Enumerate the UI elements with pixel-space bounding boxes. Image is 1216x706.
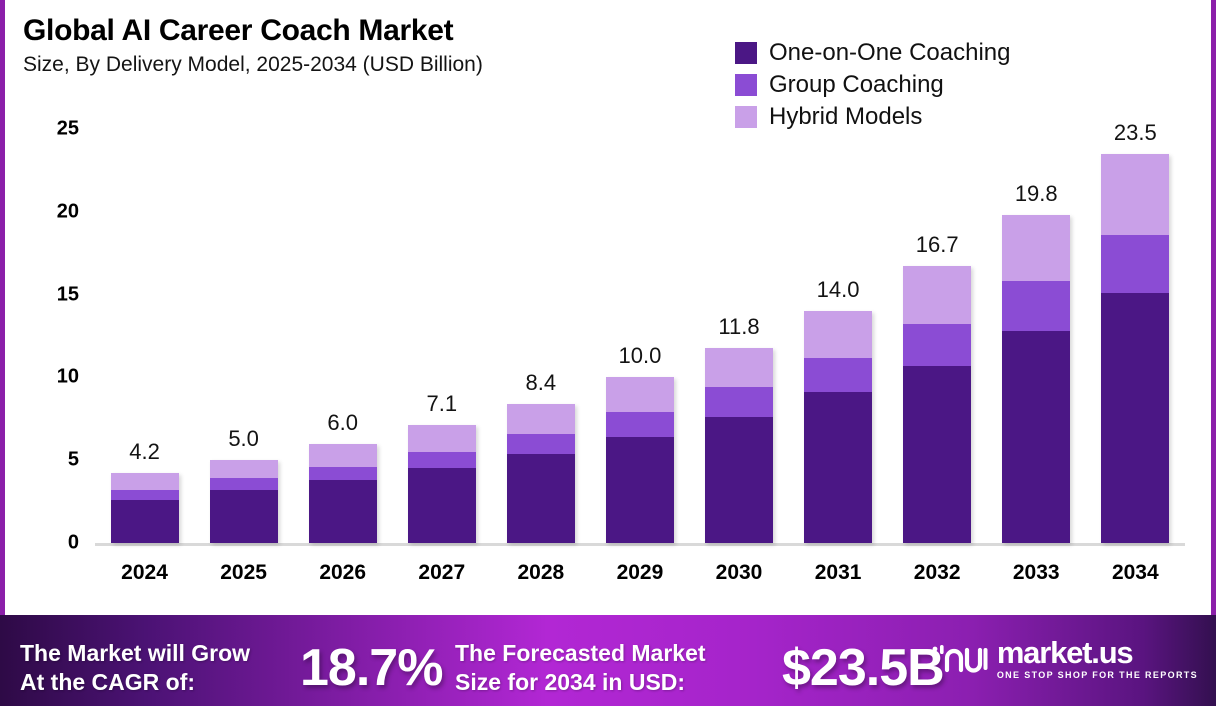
chart-plot-area: 4.25.06.07.18.410.011.814.016.719.823.5 xyxy=(95,110,1185,543)
cagr-label: The Market will Grow At the CAGR of: xyxy=(20,639,250,697)
stacked-bar[interactable] xyxy=(1002,215,1070,543)
x-axis-tick-label: 2027 xyxy=(408,561,476,585)
x-axis-tick-label: 2030 xyxy=(705,561,773,585)
stacked-bar[interactable] xyxy=(408,425,476,543)
stacked-bar[interactable] xyxy=(309,444,377,543)
bar-segment-hybrid-models[interactable] xyxy=(210,460,278,478)
bar-column[interactable]: 14.0 xyxy=(804,110,872,543)
bar-value-label: 10.0 xyxy=(619,343,662,369)
forecast-value: $23.5B xyxy=(782,640,944,696)
bar-segment-one-on-one-coaching[interactable] xyxy=(111,500,179,543)
stacked-bar[interactable] xyxy=(705,348,773,543)
bar-segment-group-coaching[interactable] xyxy=(408,452,476,469)
bar-segment-group-coaching[interactable] xyxy=(804,358,872,393)
bar-segment-group-coaching[interactable] xyxy=(111,490,179,500)
bar-segment-hybrid-models[interactable] xyxy=(804,311,872,357)
infographic-page: Global AI Career Coach Market Size, By D… xyxy=(0,0,1216,706)
bar-segment-hybrid-models[interactable] xyxy=(903,266,971,324)
brand-logo[interactable]: market.us ONE STOP SHOP FOR THE REPORTS xyxy=(927,637,1198,682)
bar-segment-group-coaching[interactable] xyxy=(210,478,278,490)
bar-value-label: 11.8 xyxy=(718,314,759,340)
x-axis-tick-label: 2034 xyxy=(1101,561,1169,585)
y-axis-tick-label: 20 xyxy=(19,200,79,223)
logo-tagline: ONE STOP SHOP FOR THE REPORTS xyxy=(997,669,1198,682)
x-axis-tick-label: 2028 xyxy=(507,561,575,585)
logo-wordmark: market.us xyxy=(997,637,1133,669)
cagr-label-line1: The Market will Grow xyxy=(20,639,250,668)
bar-value-label: 5.0 xyxy=(228,426,259,452)
bar-value-label: 7.1 xyxy=(426,391,457,417)
x-axis-tick-label: 2025 xyxy=(210,561,278,585)
bar-segment-group-coaching[interactable] xyxy=(903,324,971,365)
bar-segment-group-coaching[interactable] xyxy=(309,467,377,480)
stacked-bar[interactable] xyxy=(507,404,575,543)
bar-segment-one-on-one-coaching[interactable] xyxy=(1002,331,1070,543)
bar-column[interactable]: 23.5 xyxy=(1101,110,1169,543)
bar-value-label: 19.8 xyxy=(1015,181,1058,207)
forecast-label-line2: Size for 2034 in USD: xyxy=(455,668,706,697)
stacked-bar[interactable] xyxy=(804,311,872,543)
bar-column[interactable]: 6.0 xyxy=(309,110,377,543)
bar-value-label: 6.0 xyxy=(327,410,358,436)
bar-segment-hybrid-models[interactable] xyxy=(705,348,773,388)
bar-value-label: 23.5 xyxy=(1114,120,1157,146)
bar-segment-group-coaching[interactable] xyxy=(1101,235,1169,293)
bar-segment-hybrid-models[interactable] xyxy=(408,425,476,451)
logo-text: market.us ONE STOP SHOP FOR THE REPORTS xyxy=(997,637,1198,682)
bar-column[interactable]: 16.7 xyxy=(903,110,971,543)
y-axis-tick-label: 10 xyxy=(19,366,79,389)
bar-segment-one-on-one-coaching[interactable] xyxy=(1101,293,1169,543)
market-us-glyph-icon xyxy=(927,640,989,680)
bar-segment-group-coaching[interactable] xyxy=(705,387,773,417)
x-axis-labels: 2024202520262027202820292030203120322033… xyxy=(95,556,1185,590)
forecast-label: The Forecasted Market Size for 2034 in U… xyxy=(455,639,706,697)
bar-segment-one-on-one-coaching[interactable] xyxy=(606,437,674,543)
bar-column[interactable]: 7.1 xyxy=(408,110,476,543)
x-axis-tick-label: 2033 xyxy=(1002,561,1070,585)
bar-column[interactable]: 19.8 xyxy=(1002,110,1070,543)
stacked-bar[interactable] xyxy=(606,377,674,543)
bar-segment-hybrid-models[interactable] xyxy=(507,404,575,434)
summary-banner: The Market will Grow At the CAGR of: 18.… xyxy=(0,615,1216,706)
y-axis-tick-label: 5 xyxy=(19,449,79,472)
bar-value-label: 4.2 xyxy=(129,439,160,465)
bar-segment-one-on-one-coaching[interactable] xyxy=(804,392,872,543)
bar-value-label: 14.0 xyxy=(817,277,860,303)
bar-segment-group-coaching[interactable] xyxy=(606,412,674,437)
stacked-bar[interactable] xyxy=(210,460,278,543)
bar-segment-hybrid-models[interactable] xyxy=(309,444,377,467)
forecast-label-line1: The Forecasted Market xyxy=(455,639,706,668)
x-axis-tick-label: 2031 xyxy=(804,561,872,585)
bar-column[interactable]: 4.2 xyxy=(111,110,179,543)
bar-column[interactable]: 5.0 xyxy=(210,110,278,543)
y-axis-tick-label: 15 xyxy=(19,283,79,306)
x-axis-line xyxy=(95,543,1185,546)
bar-segment-hybrid-models[interactable] xyxy=(111,473,179,490)
bar-segment-one-on-one-coaching[interactable] xyxy=(903,366,971,543)
stacked-bar[interactable] xyxy=(111,473,179,543)
bar-value-label: 8.4 xyxy=(526,370,557,396)
stacked-bar[interactable] xyxy=(903,266,971,543)
cagr-label-line2: At the CAGR of: xyxy=(20,668,250,697)
x-axis-tick-label: 2032 xyxy=(903,561,971,585)
bar-segment-one-on-one-coaching[interactable] xyxy=(507,454,575,543)
bar-value-label: 16.7 xyxy=(916,232,959,258)
cagr-value: 18.7% xyxy=(300,640,442,696)
stacked-bar[interactable] xyxy=(1101,154,1169,543)
x-axis-tick-label: 2029 xyxy=(606,561,674,585)
bar-segment-one-on-one-coaching[interactable] xyxy=(309,480,377,543)
x-axis-tick-label: 2024 xyxy=(111,561,179,585)
bar-segment-hybrid-models[interactable] xyxy=(1101,154,1169,235)
bar-segment-one-on-one-coaching[interactable] xyxy=(705,417,773,543)
bar-segment-group-coaching[interactable] xyxy=(1002,281,1070,331)
y-axis-tick-label: 0 xyxy=(19,532,79,555)
bar-column[interactable]: 8.4 xyxy=(507,110,575,543)
bar-segment-hybrid-models[interactable] xyxy=(606,377,674,412)
bar-segment-one-on-one-coaching[interactable] xyxy=(408,468,476,543)
bar-segment-hybrid-models[interactable] xyxy=(1002,215,1070,281)
y-axis-tick-label: 25 xyxy=(19,118,79,141)
bar-column[interactable]: 10.0 xyxy=(606,110,674,543)
bar-segment-one-on-one-coaching[interactable] xyxy=(210,490,278,543)
bar-segment-group-coaching[interactable] xyxy=(507,434,575,454)
x-axis-tick-label: 2026 xyxy=(309,561,377,585)
bar-column[interactable]: 11.8 xyxy=(705,110,773,543)
